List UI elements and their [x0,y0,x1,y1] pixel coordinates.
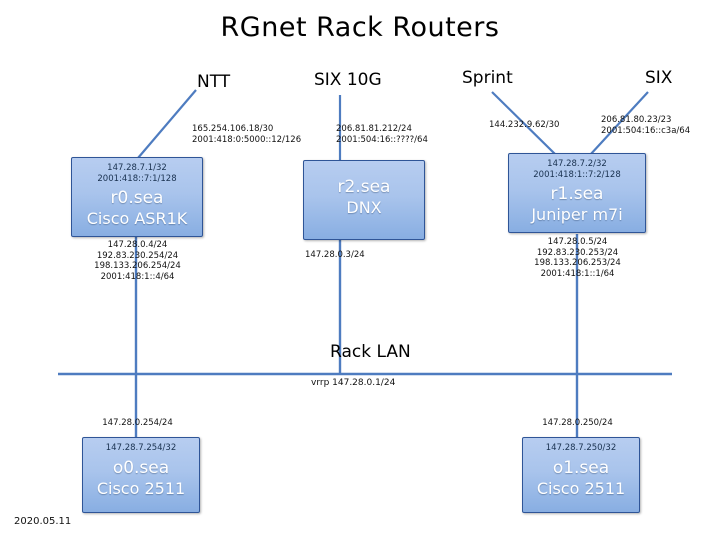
o0-lan-address: 147.28.0.254/24 [60,418,215,429]
uplink-label-six: SIX [645,68,672,88]
r1-loopback-v4: 147.28.7.2/32 [509,159,645,170]
router-node-r0[interactable]: 147.28.7.1/32 2001:418::7:1/128 r0.sea C… [71,157,203,237]
r2-lan-addresses: 147.28.0.3/24 [305,250,365,261]
uplink-addresses-ntt: 165.254.106.18/30 2001:418:0:5000::12/12… [192,124,301,145]
r0-lan-addresses: 147.28.0.4/24 192.83.230.254/24 198.133.… [60,240,215,282]
uplink-addresses-sprint: 144.232.9.62/30 [489,120,559,131]
uplink-six-v4: 206.81.80.23/23 [601,115,690,126]
uplink-label-six-10g: SIX 10G [314,70,382,90]
router-node-r1[interactable]: 147.28.7.2/32 2001:418:1::7:2/128 r1.sea… [508,153,646,233]
diagram-canvas: RGnet Rack Routers NTT SIX 10G Sprint SI… [0,0,720,540]
uplink-ntt-v4: 165.254.106.18/30 [192,124,301,135]
router-node-r2[interactable]: r2.sea DNX [303,160,425,240]
o1-hostname: o1.sea [523,458,639,479]
uplink-ntt-v6: 2001:418:0:5000::12/126 [192,135,301,146]
o0-loopback-v4: 147.28.7.254/32 [83,443,199,454]
r0-lan-addr-3: 198.133.206.254/24 [60,261,215,272]
rack-lan-label: Rack LAN [330,342,411,362]
uplink-label-sprint: Sprint [462,68,513,88]
uplink-six10g-v6: 2001:504:16::????/64 [336,135,428,146]
r1-hostname: r1.sea [509,184,645,205]
date-stamp: 2020.05.11 [14,516,71,527]
r0-hostname: r0.sea [72,188,202,209]
r1-lan-addr-2: 192.83.230.253/24 [500,248,655,259]
r2-model: DNX [304,198,424,218]
o1-lan-address: 147.28.0.250/24 [500,418,655,429]
uplink-addresses-six: 206.81.80.23/23 2001:504:16::c3a/64 [601,115,690,136]
r0-lan-addr-4: 2001:418:1::4/64 [60,272,215,283]
r2-lan-addr-1: 147.28.0.3/24 [305,250,365,261]
r0-lan-addr-1: 147.28.0.4/24 [60,240,215,251]
r0-loopback-v6: 2001:418::7:1/128 [72,174,202,185]
r1-lan-addr-3: 198.133.206.253/24 [500,258,655,269]
o0-hostname: o0.sea [83,458,199,479]
r1-lan-addresses: 147.28.0.5/24 192.83.230.253/24 198.133.… [500,237,655,279]
r1-lan-addr-1: 147.28.0.5/24 [500,237,655,248]
console-node-o0[interactable]: 147.28.7.254/32 o0.sea Cisco 2511 [82,437,200,513]
o0-model: Cisco 2511 [83,479,199,499]
r1-model: Juniper m7i [509,205,645,225]
r1-lan-addr-4: 2001:418:1::1/64 [500,269,655,280]
r2-hostname: r2.sea [304,177,424,198]
uplink-label-ntt: NTT [197,72,230,92]
r0-model: Cisco ASR1K [72,209,202,229]
r0-loopback-v4: 147.28.7.1/32 [72,163,202,174]
uplink-six-v6: 2001:504:16::c3a/64 [601,126,690,137]
console-node-o1[interactable]: 147.28.7.250/32 o1.sea Cisco 2511 [522,437,640,513]
r0-lan-addr-2: 192.83.230.254/24 [60,251,215,262]
rack-lan-vrrp: vrrp 147.28.0.1/24 [311,378,395,388]
uplink-six10g-v4: 206.81.81.212/24 [336,124,428,135]
page-title: RGnet Rack Routers [0,12,720,43]
o1-model: Cisco 2511 [523,479,639,499]
r1-loopback-v6: 2001:418:1::7:2/128 [509,170,645,181]
uplink-sprint-v4: 144.232.9.62/30 [489,120,559,131]
wire-ntt-to-r0 [138,90,196,158]
uplink-addresses-six-10g: 206.81.81.212/24 2001:504:16::????/64 [336,124,428,145]
o1-loopback-v4: 147.28.7.250/32 [523,443,639,454]
